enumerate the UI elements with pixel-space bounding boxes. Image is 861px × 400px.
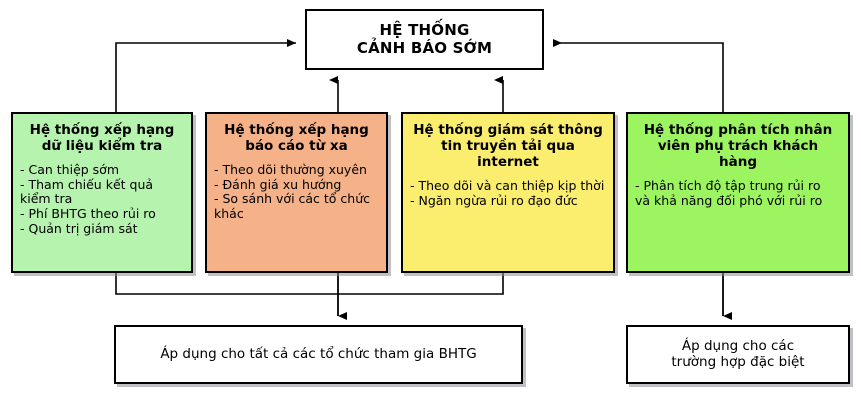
node-early-warning-system[interactable]: HỆ THỐNG CẢNH BÁO SỚM	[305, 9, 544, 70]
node-mid-1-title: Hệ thống xếp hạng dữ liệu kiểm tra	[20, 123, 184, 155]
node-phan-tich-nhan-vien[interactable]: Hệ thống phân tích nhân viên phụ trách k…	[626, 112, 850, 273]
node-ap-dung-truong-hop-dac-biet[interactable]: Áp dụng cho các trường hợp đặc biệt	[626, 325, 850, 384]
node-mid-1-body: - Can thiệp sớm - Tham chiếu kết quả kiể…	[20, 163, 184, 237]
node-mid-2-body: - Theo dõi thường xuyên - Đánh giá xu hư…	[214, 163, 379, 222]
node-mid-4-body: - Phân tích độ tập trung rủi ro và khả n…	[635, 179, 841, 209]
node-xep-hang-du-lieu-kiem-tra[interactable]: Hệ thống xếp hạng dữ liệu kiểm tra - Can…	[11, 112, 193, 273]
node-mid-3-title: Hệ thống giám sát thông tin truyền tải q…	[410, 123, 606, 171]
connector-boxes123-to-bottom1	[116, 273, 503, 316]
node-root-title: HỆ THỐNG CẢNH BÁO SỚM	[357, 22, 492, 57]
node-mid-4-title: Hệ thống phân tích nhân viên phụ trách k…	[635, 123, 841, 171]
connector-box1-to-root	[116, 43, 296, 112]
node-ap-dung-tat-ca-to-chuc[interactable]: Áp dụng cho tất cả các tổ chức tham gia …	[114, 325, 523, 384]
node-giam-sat-thong-tin-internet[interactable]: Hệ thống giám sát thông tin truyền tải q…	[401, 112, 615, 273]
node-mid-2-title: Hệ thống xếp hạng báo cáo từ xa	[214, 123, 379, 155]
node-bot-1-text: Áp dụng cho tất cả các tổ chức tham gia …	[152, 347, 484, 363]
connector-box4-to-root	[553, 43, 723, 112]
node-mid-3-body: - Theo dõi và can thiệp kịp thời - Ngăn …	[410, 179, 606, 209]
early-warning-system-diagram: HỆ THỐNG CẢNH BÁO SỚM Hệ thống xếp hạng …	[0, 0, 861, 400]
node-bot-2-text: Áp dụng cho các trường hợp đặc biệt	[663, 339, 812, 371]
node-xep-hang-bao-cao-tu-xa[interactable]: Hệ thống xếp hạng báo cáo từ xa - Theo d…	[205, 112, 388, 273]
